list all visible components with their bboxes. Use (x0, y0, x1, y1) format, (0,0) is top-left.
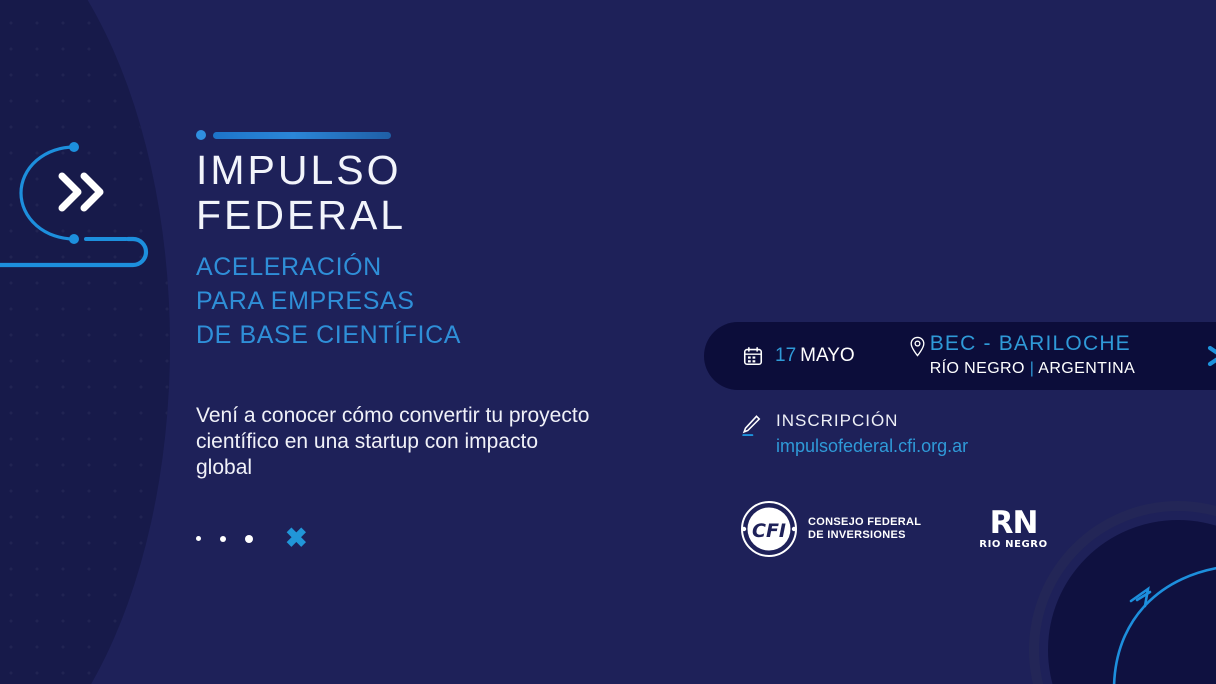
brand-block: IMPULSO FEDERAL ACELERACIÓN PARA EMPRESA… (196, 130, 666, 352)
event-country: ARGENTINA (1038, 360, 1135, 377)
pitch-text: Vení a conocer cómo convertir tu proyect… (196, 403, 596, 481)
event-date: 17MAYO (742, 345, 855, 367)
event-date-day: 17 (775, 345, 796, 366)
background-dot-pattern (0, 0, 170, 684)
close-x-icon: ✖ (285, 525, 308, 552)
brand-tagline-line2: PARA EMPRESAS (196, 284, 666, 318)
double-chevron-right-icon[interactable] (1202, 341, 1216, 371)
registration-block[interactable]: INSCRIPCIÓN impulsofederal.cfi.org.ar (740, 410, 968, 458)
event-region: RÍO NEGRO (930, 360, 1025, 377)
brand-title-line2: FEDERAL (196, 197, 666, 234)
event-separator: | (1030, 360, 1035, 377)
decorative-dots-row: ✖ (196, 525, 308, 552)
event-date-month: MAYO (800, 345, 855, 366)
decor-dot-3 (245, 535, 253, 543)
brand-title-line1: IMPULSO (196, 152, 666, 189)
slide-canvas: IMPULSO FEDERAL ACELERACIÓN PARA EMPRESA… (0, 0, 1216, 684)
decor-dot-1 (196, 536, 201, 541)
brand-rule-dot (196, 130, 206, 140)
event-location: BEC - BARILOCHE RÍO NEGRO | ARGENTINA (909, 333, 1136, 380)
event-venue: BEC - BARILOCHE (930, 333, 1136, 355)
brand-tagline-line3: DE BASE CIENTÍFICA (196, 318, 666, 352)
pencil-icon (740, 413, 762, 437)
calendar-icon (742, 345, 764, 367)
brand-rule (196, 130, 666, 140)
rio-negro-logo: RN RIO NEGRO (979, 508, 1047, 550)
pill-next-arrows[interactable] (1202, 341, 1216, 371)
brand-rule-bar (213, 132, 391, 139)
brand-tagline-line1: ACELERACIÓN (196, 250, 666, 284)
decor-dot-2 (220, 536, 226, 542)
registration-url[interactable]: impulsofederal.cfi.org.ar (776, 434, 968, 458)
svg-text:CFI: CFI (752, 520, 786, 542)
cfi-text-line2: DE INVERSIONES (808, 529, 921, 542)
location-pin-icon (909, 336, 926, 357)
brand-tagline: ACELERACIÓN PARA EMPRESAS DE BASE CIENTÍ… (196, 250, 666, 352)
registration-label: INSCRIPCIÓN (776, 410, 968, 432)
event-info-pill[interactable]: 17MAYO BEC - BARILOCHE RÍO NEGRO | ARGEN… (704, 322, 1216, 390)
cfi-logo: CFI CONSEJO FEDERAL DE INVERSIONES (740, 500, 921, 558)
cfi-text-line1: CONSEJO FEDERAL (808, 516, 921, 529)
event-region-country: RÍO NEGRO | ARGENTINA (930, 358, 1136, 380)
rn-mark: RN (979, 508, 1047, 538)
corner-rings-decoration (1048, 520, 1216, 684)
cfi-mark-icon: CFI (740, 500, 798, 558)
rn-subtitle: RIO NEGRO (979, 539, 1047, 550)
sponsor-logos: CFI CONSEJO FEDERAL DE INVERSIONES RN RI… (740, 500, 1048, 558)
